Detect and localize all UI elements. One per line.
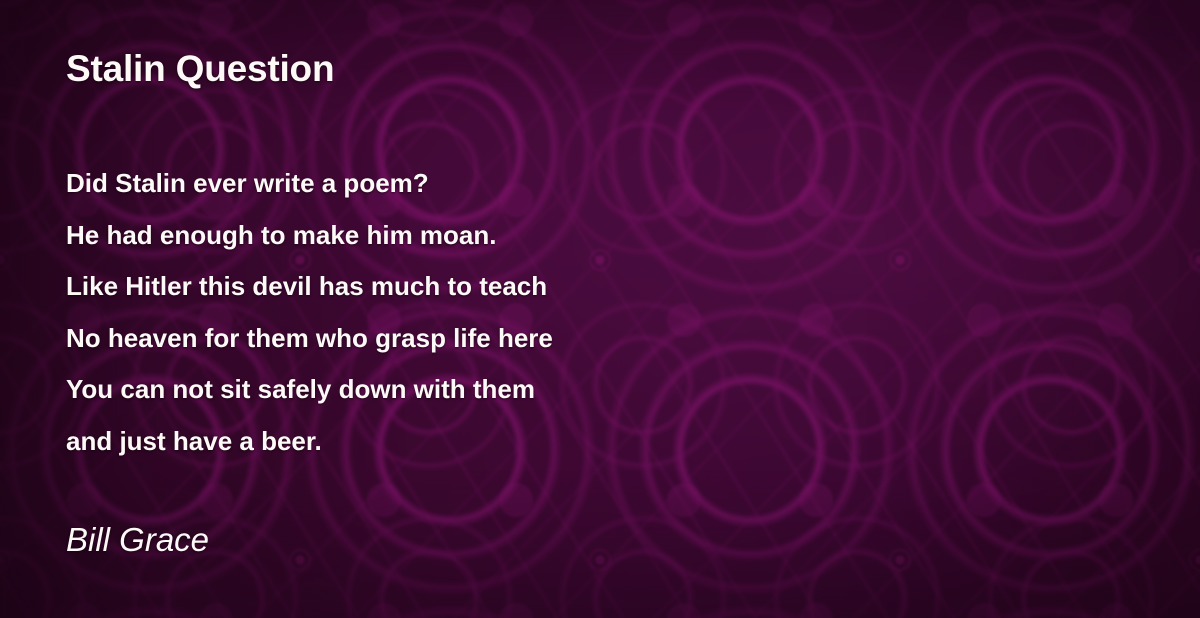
poem-line: Like Hitler this devil has much to teach	[66, 261, 553, 313]
poem-line: He had enough to make him moan.	[66, 210, 553, 262]
poem-line: You can not sit safely down with them	[66, 364, 553, 416]
poem-title: Stalin Question	[66, 48, 334, 90]
poem-line: and just have a beer.	[66, 416, 553, 468]
poem-body: Did Stalin ever write a poem? He had eno…	[66, 158, 553, 467]
poem-card: Stalin Question Did Stalin ever write a …	[0, 0, 1200, 618]
poem-line: No heaven for them who grasp life here	[66, 313, 553, 365]
poem-line: Did Stalin ever write a poem?	[66, 158, 553, 210]
poem-author-byline: Bill Grace	[66, 521, 209, 559]
